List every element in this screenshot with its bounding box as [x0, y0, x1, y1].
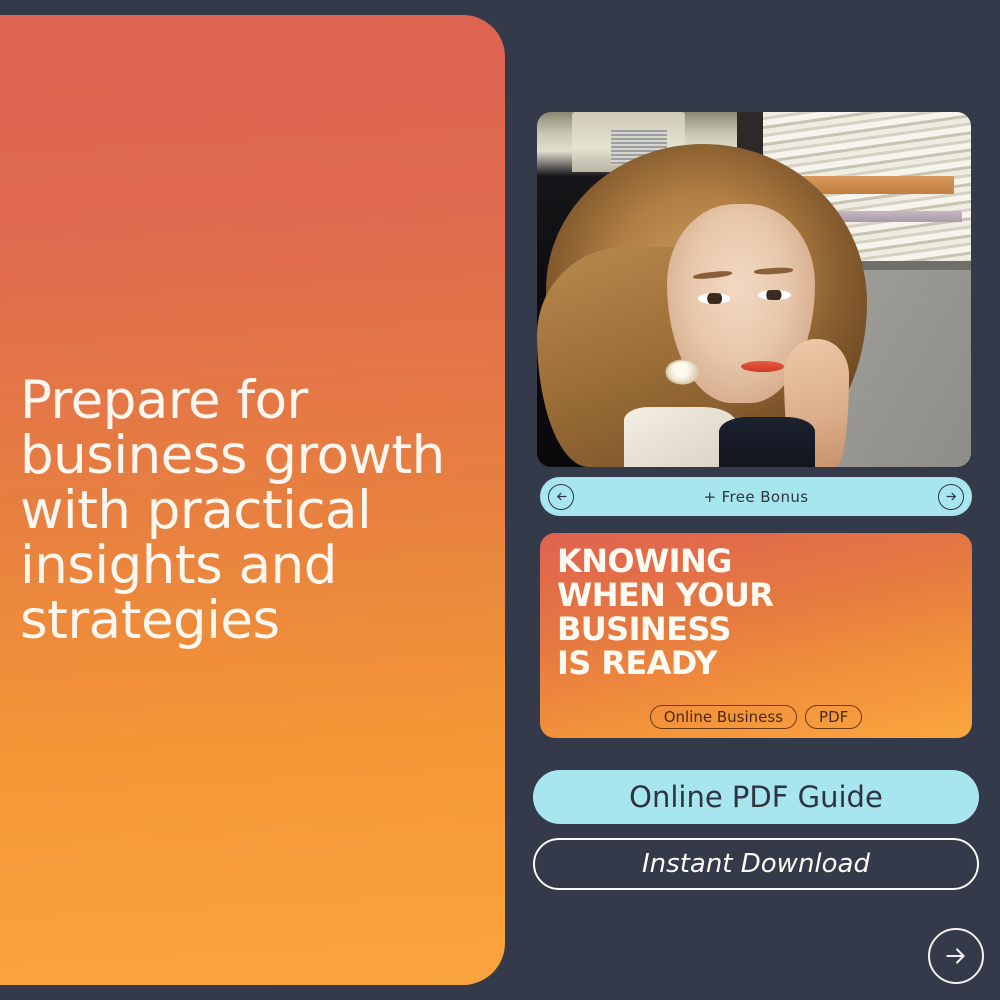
arrow-right-circle-icon[interactable]	[938, 484, 964, 510]
photo-eye-left	[698, 293, 731, 304]
online-pdf-guide-button[interactable]: Online PDF Guide	[533, 770, 979, 824]
tag-online-business: Online Business	[650, 705, 797, 729]
photo-shirt	[719, 417, 814, 467]
promo-card[interactable]: KNOWING WHEN YOUR BUSINESS IS READY Onli…	[540, 533, 972, 738]
photo-eye-right	[758, 290, 791, 301]
hero-panel: Prepare for business growth with practic…	[0, 15, 505, 985]
free-bonus-bar[interactable]: + Free Bonus	[540, 477, 972, 516]
next-slide-button[interactable]	[928, 928, 984, 984]
instant-download-button[interactable]: Instant Download	[533, 838, 979, 890]
slide-canvas: Prepare for business growth with practic…	[0, 0, 1000, 1000]
tag-pdf: PDF	[805, 705, 862, 729]
photo-lips	[741, 361, 784, 372]
promo-tag-list: Online Business PDF	[540, 705, 972, 729]
page-title: Prepare for business growth with practic…	[20, 373, 490, 648]
photo-folder-orange	[797, 176, 953, 194]
arrow-left-circle-icon[interactable]	[548, 484, 574, 510]
free-bonus-label: + Free Bonus	[574, 488, 938, 506]
arrow-right-icon	[943, 943, 969, 969]
hero-photo	[537, 112, 971, 467]
right-column: + Free Bonus KNOWING WHEN YOUR BUSINESS …	[533, 0, 973, 1000]
photo-earring	[667, 361, 697, 383]
promo-headline: KNOWING WHEN YOUR BUSINESS IS READY	[557, 544, 773, 680]
